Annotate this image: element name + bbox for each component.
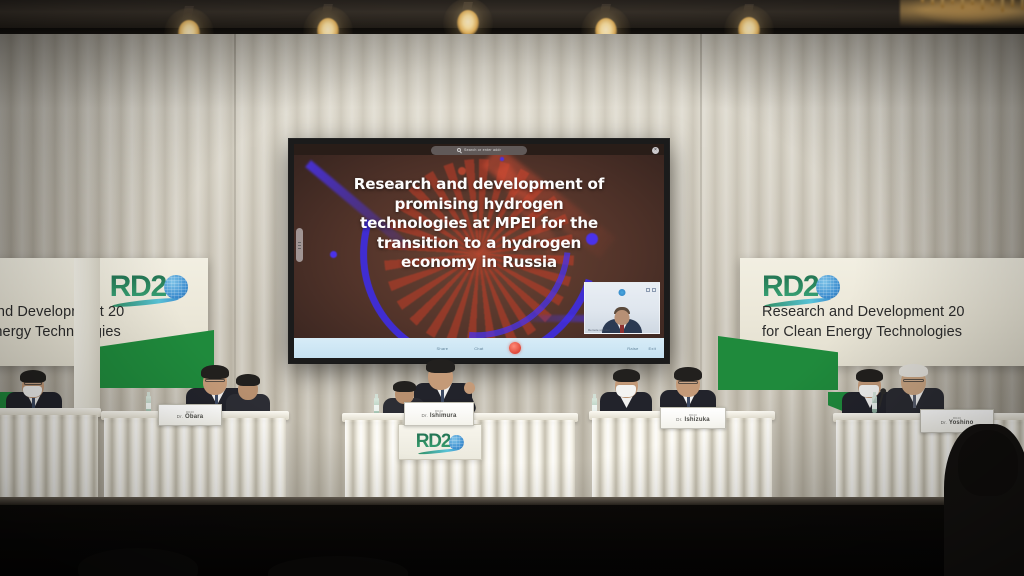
- speaker-hair: [426, 359, 455, 373]
- face-mask: [23, 386, 42, 397]
- presentation-screen[interactable]: Search or enter addr × Research and deve: [289, 139, 669, 363]
- globe-icon: [816, 275, 840, 299]
- search-icon: [457, 148, 461, 152]
- panelist-hair: [856, 369, 883, 382]
- nameplate-surname: Ishimura: [430, 413, 457, 419]
- slide-title: Research and development of promising hy…: [316, 175, 642, 273]
- chandelier-glow: [900, 0, 1024, 30]
- panelist-hair: [899, 364, 928, 377]
- stage-pillar: [74, 258, 100, 408]
- panelist-hair: [674, 367, 702, 381]
- banner-right-line2: for Clean Energy Technologies: [762, 322, 1024, 342]
- rd20-logo: RD2: [416, 431, 464, 453]
- slide-title-line: transition to a hydrogen: [316, 234, 642, 254]
- panelist-hair: [201, 365, 229, 379]
- share-button[interactable]: Share: [437, 346, 449, 351]
- record-button[interactable]: [509, 342, 521, 354]
- slide-canvas: Research and development of promising hy…: [294, 155, 664, 338]
- face-mask: [616, 385, 636, 397]
- slide-title-line: economy in Russia: [316, 253, 642, 273]
- nameplate-surname: Obara: [185, 414, 203, 420]
- remote-speaker-label: Remote speaker: [588, 328, 610, 332]
- rd20-logo: RD2: [110, 270, 188, 304]
- nameplate-org: RD20: [435, 409, 443, 413]
- screen-surface: Search or enter addr × Research and deve: [294, 144, 664, 358]
- nameplate-name: Dr. Ishizuka: [676, 417, 710, 423]
- nameplate-obara: RD20 Dr. Obara: [158, 404, 222, 426]
- nameplate-name: Dr. Ishimura: [422, 413, 457, 419]
- url-text: Search or enter addr: [464, 148, 501, 152]
- glasses: [903, 379, 924, 382]
- panelist-hair: [236, 374, 260, 386]
- table-front-rd20-panel: RD2: [398, 424, 482, 460]
- audience-head: [958, 430, 1018, 496]
- banner-right-line1: Research and Development 20: [762, 302, 1024, 322]
- globe-icon: [449, 435, 464, 450]
- nameplate-surname: Ishizuka: [685, 417, 710, 423]
- sidebar-handle[interactable]: [296, 228, 303, 262]
- panel-table: [592, 418, 772, 508]
- video-app-toolbar[interactable]: Share Chat Raise Exit: [294, 338, 664, 358]
- table-skirt: [0, 415, 98, 507]
- glasses: [24, 382, 42, 385]
- banner-left-line1: arch and Development 20: [0, 302, 208, 322]
- nameplate-honorific: Dr.: [941, 420, 947, 425]
- nameplate-ishimura: RD20 Dr. Ishimura: [404, 402, 474, 426]
- nameplate-ishizuka: RD20 Dr. Ishizuka: [660, 407, 726, 429]
- ceiling-spotlight: [457, 10, 479, 36]
- table-skirt: [592, 418, 772, 508]
- nameplate-honorific: Dr.: [676, 417, 682, 422]
- raise-hand-button[interactable]: Raise: [627, 346, 638, 351]
- glasses: [205, 379, 225, 382]
- panel-table: [104, 418, 286, 508]
- nameplate-org: RD20: [186, 410, 194, 414]
- banner-right-text: Research and Development 20 for Clean En…: [740, 302, 1024, 342]
- nameplate-surname: Yoshino: [949, 420, 974, 426]
- slide-title-line: technologies at MPEI for the: [316, 214, 642, 234]
- decorative-dot: [458, 167, 466, 175]
- speaker-hand: [464, 382, 475, 394]
- video-app-logo-icon: [619, 289, 626, 296]
- water-bottle: [872, 396, 877, 413]
- nameplate-honorific: Dr.: [177, 414, 183, 419]
- nameplate-name: Dr. Yoshino: [941, 420, 974, 426]
- glasses: [678, 381, 698, 384]
- slide-title-line: promising hydrogen: [316, 195, 642, 215]
- remote-speaker-video[interactable]: Remote speaker: [584, 282, 660, 334]
- chandelier-drops: [900, 0, 1024, 26]
- nameplate-org: RD20: [689, 413, 697, 417]
- video-controls[interactable]: [646, 288, 656, 292]
- panelist-hair: [613, 369, 640, 382]
- globe-icon: [164, 275, 188, 299]
- nameplate-org: RD20: [953, 416, 961, 420]
- nameplate-honorific: Dr.: [422, 413, 428, 418]
- panelist-hair: [393, 381, 416, 392]
- rd20-logo: RD2: [762, 270, 840, 304]
- chat-button[interactable]: Chat: [474, 346, 483, 351]
- panel-table: [0, 415, 98, 507]
- table-skirt: [104, 418, 286, 508]
- toolbar-right-group[interactable]: Raise Exit: [627, 346, 656, 351]
- nameplate-name: Dr. Obara: [177, 414, 204, 420]
- url-bar[interactable]: Search or enter addr: [431, 146, 527, 155]
- remote-speaker-head: [615, 310, 630, 325]
- decorative-dot: [500, 157, 504, 161]
- close-icon[interactable]: ×: [652, 147, 659, 154]
- exit-button[interactable]: Exit: [649, 346, 656, 351]
- slide-title-line: Research and development of: [316, 175, 642, 195]
- fullscreen-icon: [652, 288, 656, 292]
- expand-icon: [646, 288, 650, 292]
- conference-scene: Search or enter addr × Research and deve: [0, 0, 1024, 576]
